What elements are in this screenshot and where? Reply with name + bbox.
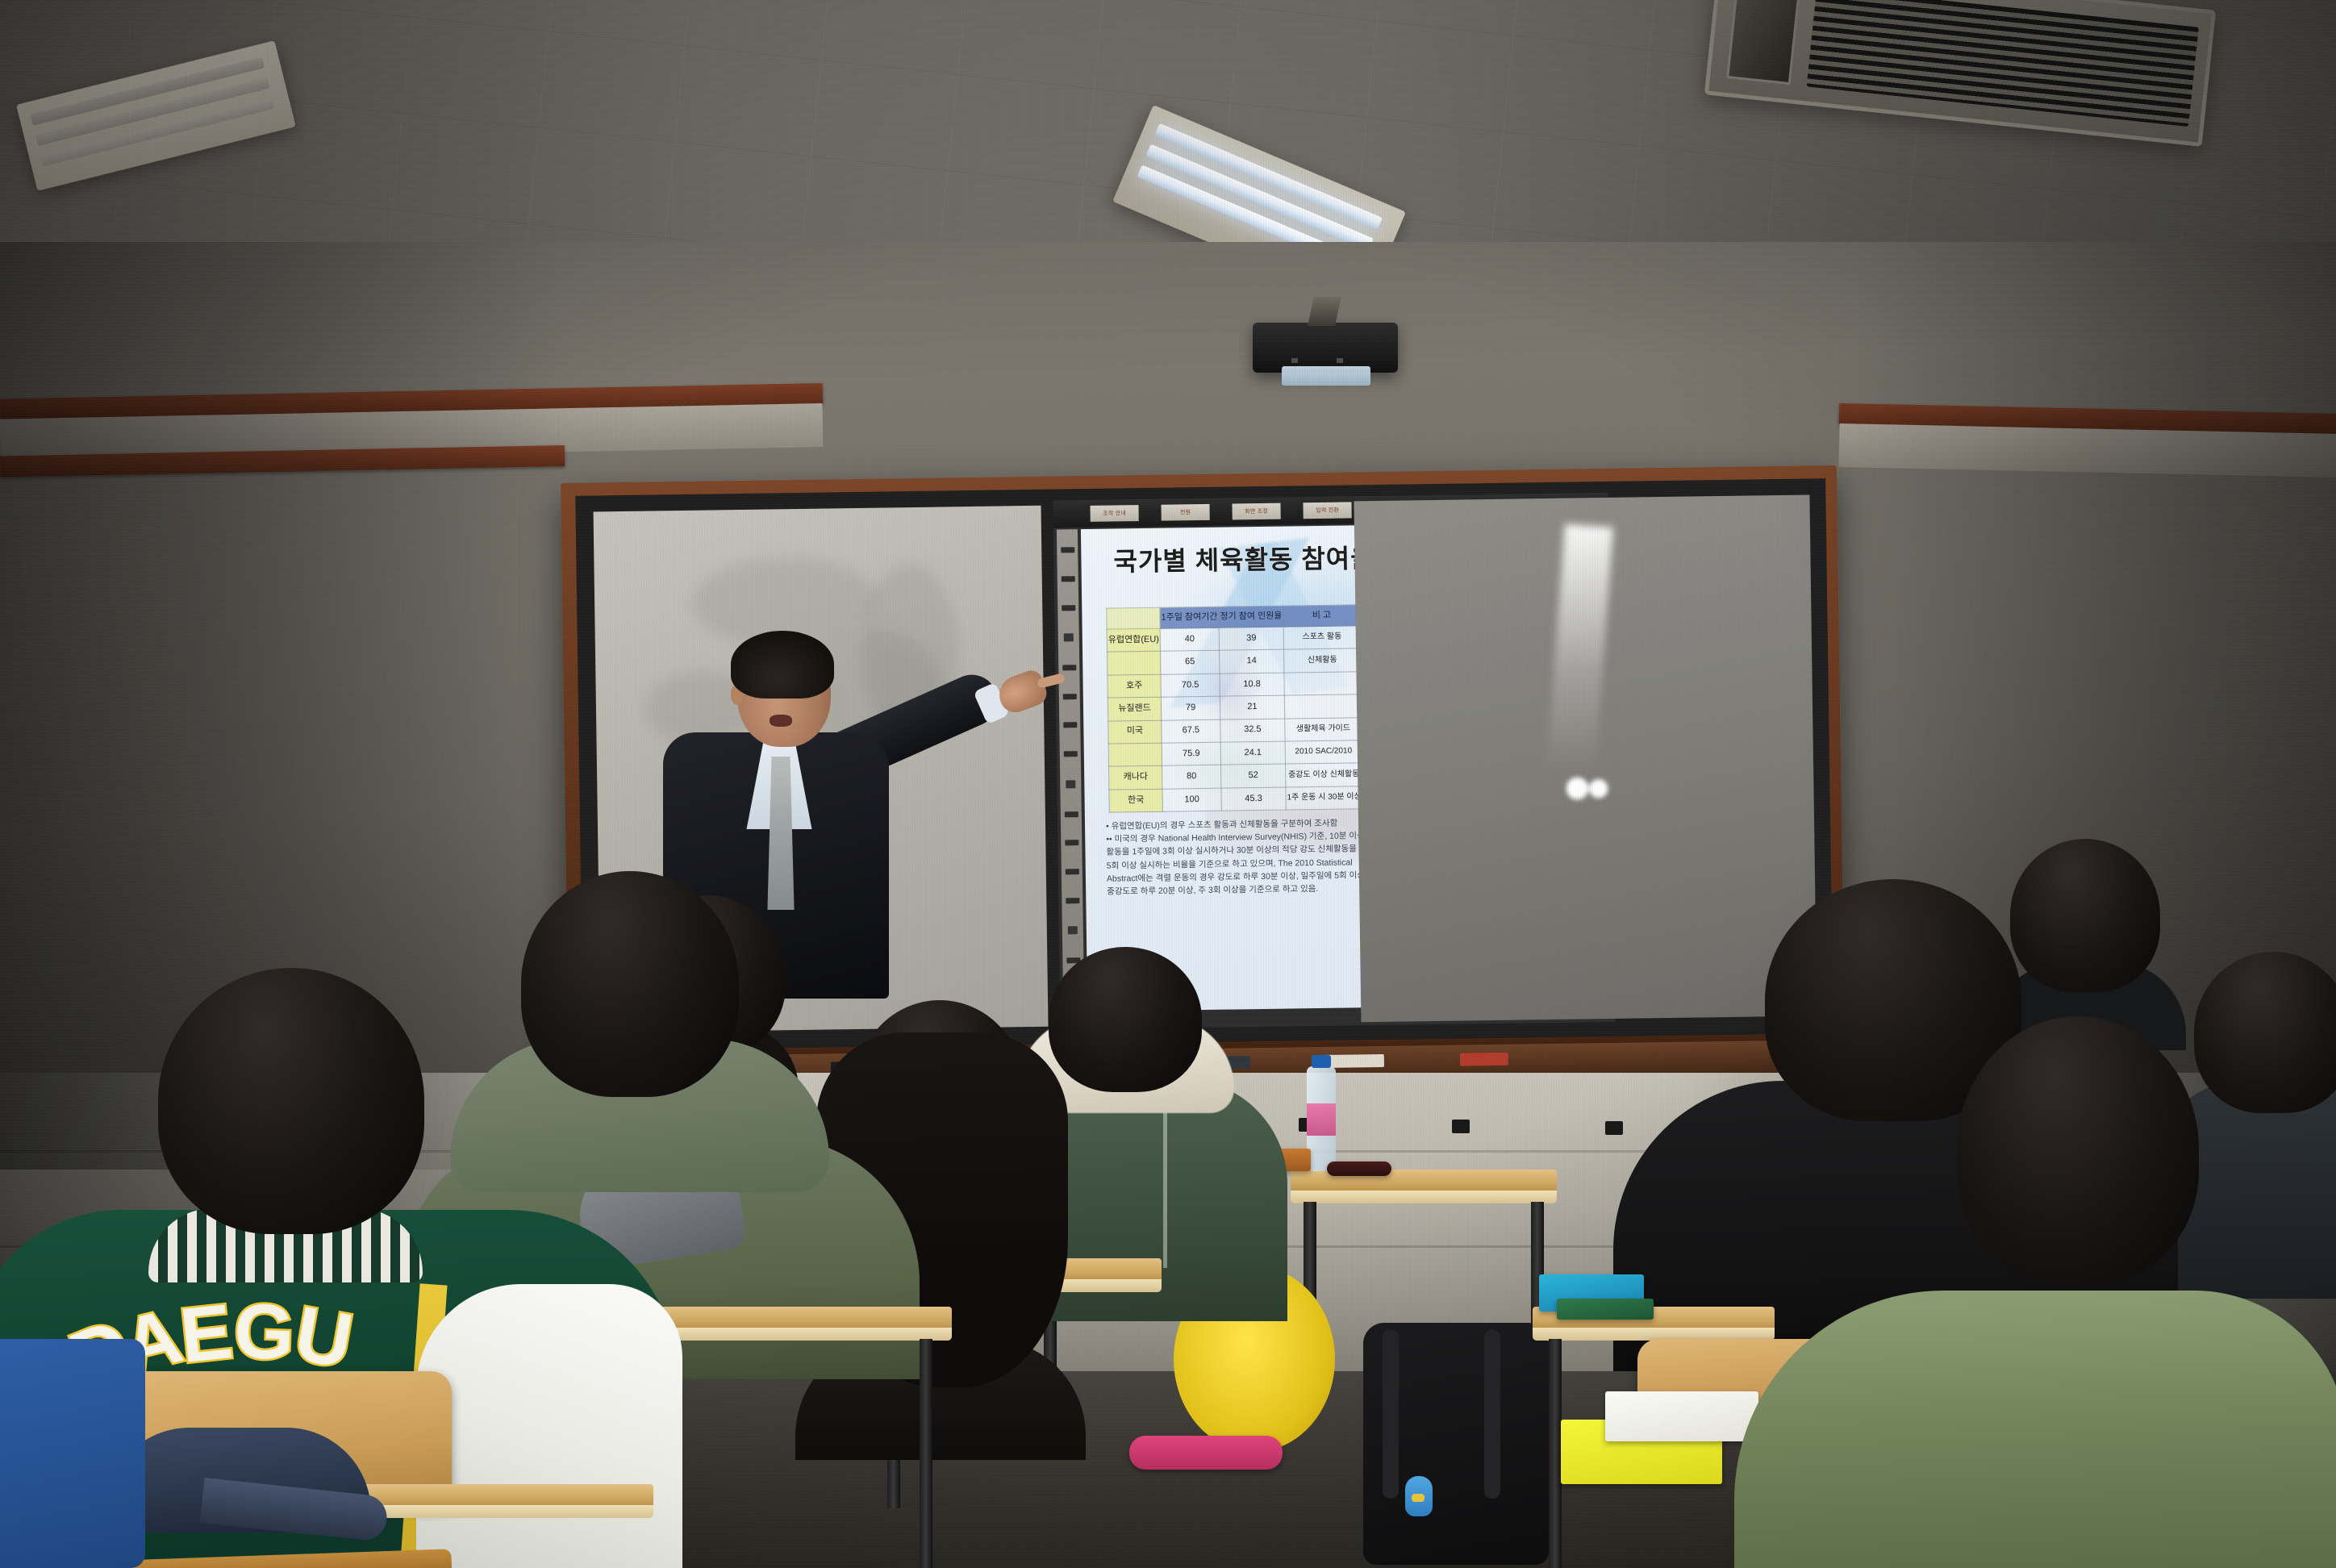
table-cell-value: 14 xyxy=(1220,649,1284,673)
board-toolbar-button[interactable] xyxy=(1064,811,1078,817)
tray-marker[interactable] xyxy=(1460,1053,1508,1066)
presenter-mouth xyxy=(770,715,792,727)
green-notebook[interactable] xyxy=(1557,1299,1654,1320)
table-cell-value: 45.3 xyxy=(1221,787,1286,811)
table-row: 유럽연합(EU)4039스포츠 활동 xyxy=(1107,626,1361,653)
desk-leg xyxy=(920,1339,932,1568)
charm-beak xyxy=(1412,1494,1425,1502)
ceiling-projector-icon xyxy=(1253,323,1398,373)
table-cell-value: 40 xyxy=(1160,628,1219,651)
student xyxy=(2178,952,2336,1291)
table-cell-country: 뉴질랜드 xyxy=(1108,697,1161,720)
projector-lens xyxy=(1282,366,1370,386)
table-cell-value: 10.8 xyxy=(1220,673,1284,696)
table-cell-note: 신체활동 xyxy=(1283,648,1361,673)
table-cell-country: 한국 xyxy=(1109,789,1162,812)
student-head xyxy=(158,968,424,1234)
table-column-header xyxy=(1107,607,1160,629)
vent-flap xyxy=(1726,0,1800,85)
board-toolbar-button[interactable] xyxy=(1065,869,1078,874)
board-toolbar-button[interactable] xyxy=(1066,780,1075,788)
table-column-header: 비 고 xyxy=(1283,605,1361,627)
cap-brim xyxy=(200,1478,390,1542)
board-toolbar-button[interactable] xyxy=(1062,665,1076,670)
board-toolbar-button[interactable] xyxy=(1061,576,1074,582)
table-row: 호주70.510.8 xyxy=(1108,672,1362,699)
board-toolbar-button[interactable] xyxy=(1062,694,1076,699)
presenter-hair xyxy=(731,631,834,699)
projector-indicator xyxy=(1337,358,1343,363)
blue-bag[interactable] xyxy=(0,1339,145,1568)
table-cell-note: 2010 SAC/2010 xyxy=(1285,740,1362,765)
table-cell-country: 미국 xyxy=(1108,720,1162,744)
table-cell-note xyxy=(1284,672,1362,696)
water-bottle[interactable] xyxy=(1307,1066,1336,1171)
classroom-photo-scene: 조작 안내 전원 화면 조정 입력 전환 국가별 체육활동 참여율 비교 (단위… xyxy=(0,0,2336,1568)
bottle-label xyxy=(1307,1103,1336,1136)
student-in-olive-jacket xyxy=(1734,1258,2336,1568)
backpack-strap xyxy=(1484,1329,1500,1499)
desk-item-case[interactable] xyxy=(1327,1161,1391,1176)
board-toolbar-button[interactable] xyxy=(1063,751,1077,757)
table-cell-country: 캐나다 xyxy=(1109,765,1162,789)
table-cell-value: 32.5 xyxy=(1220,719,1285,742)
backpack[interactable] xyxy=(1363,1323,1549,1565)
table-cell-value: 70.5 xyxy=(1161,673,1220,697)
slide-data-table: 1주일 참여기간정기 참여 인원율비 고 유럽연합(EU)4039스포츠 활동6… xyxy=(1106,604,1363,812)
table-cell-note: 생활체육 가이드 xyxy=(1285,717,1362,741)
bottle-cap xyxy=(1312,1055,1331,1068)
table-column-header: 1주일 참여기간 xyxy=(1160,607,1219,628)
backpack-strap xyxy=(1383,1329,1399,1499)
board-toolbar-button[interactable] xyxy=(1062,605,1075,611)
table-cell-note xyxy=(1284,694,1362,719)
cabinet-handle-hole xyxy=(1452,1120,1470,1133)
board-tag: 입력 전환 xyxy=(1303,502,1351,519)
table-cell-value: 24.1 xyxy=(1220,741,1285,765)
desk-leg xyxy=(1549,1339,1562,1568)
table-cell-country xyxy=(1108,652,1161,675)
bag-charm-icon xyxy=(1405,1476,1433,1516)
table-cell-country: 호주 xyxy=(1108,674,1161,698)
table-cell-value: 80 xyxy=(1162,765,1221,788)
table-cell-value: 75.9 xyxy=(1162,742,1220,765)
student-body xyxy=(1734,1291,2336,1568)
student-head xyxy=(2194,952,2336,1113)
student-head xyxy=(1957,1016,2199,1282)
table-cell-value: 67.5 xyxy=(1162,719,1220,743)
vent-grille xyxy=(1807,0,2199,127)
table-cell-value: 79 xyxy=(1161,696,1220,719)
projector-indicator xyxy=(1291,358,1298,363)
desk-edge xyxy=(1291,1191,1557,1203)
table-cell-value: 21 xyxy=(1220,695,1284,719)
table-cell-value: 39 xyxy=(1219,627,1283,650)
table-row: 캐나다8052중강도 이상 신체활동 xyxy=(1109,763,1363,790)
table-row: 75.924.12010 SAC/2010 xyxy=(1108,740,1362,767)
table-row: 미국67.532.5생활체육 가이드 xyxy=(1108,717,1362,744)
light-reflection xyxy=(1547,524,1613,769)
board-toolbar-button[interactable] xyxy=(1061,548,1074,553)
table-column-header: 정기 참여 인원율 xyxy=(1219,606,1283,628)
light-reflection-spots xyxy=(1566,776,1611,801)
table-cell-note: 1주 운동 시 30분 이상 xyxy=(1286,786,1363,810)
board-toolbar-button[interactable] xyxy=(1065,840,1078,845)
table-cell-country xyxy=(1108,743,1162,766)
board-tag: 전원 xyxy=(1161,504,1209,521)
board-tag: 화면 조정 xyxy=(1232,503,1280,520)
table-body: 유럽연합(EU)4039스포츠 활동6514신체활동호주70.510.8뉴질랜드… xyxy=(1107,626,1362,812)
table-row: 6514신체활동 xyxy=(1108,648,1362,675)
board-tag: 조작 안내 xyxy=(1091,505,1139,522)
board-toolbar-button[interactable] xyxy=(1066,898,1079,903)
parka-zipper xyxy=(1163,1107,1167,1268)
table-cell-country: 유럽연합(EU) xyxy=(1107,628,1160,652)
table-row: 한국10045.31주 운동 시 30분 이상 xyxy=(1109,786,1363,812)
table-cell-value: 52 xyxy=(1221,764,1286,787)
table-cell-note: 중강도 이상 신체활동 xyxy=(1285,763,1362,787)
table-cell-value: 100 xyxy=(1162,788,1221,811)
board-toolbar-button[interactable] xyxy=(1063,723,1077,728)
board-toolbar-button[interactable] xyxy=(1064,634,1074,642)
board-toolbar-button[interactable] xyxy=(1068,926,1078,934)
table-cell-value: 65 xyxy=(1161,651,1220,674)
table-cell-note: 스포츠 활동 xyxy=(1283,626,1361,650)
table-row: 뉴질랜드7921 xyxy=(1108,694,1362,721)
